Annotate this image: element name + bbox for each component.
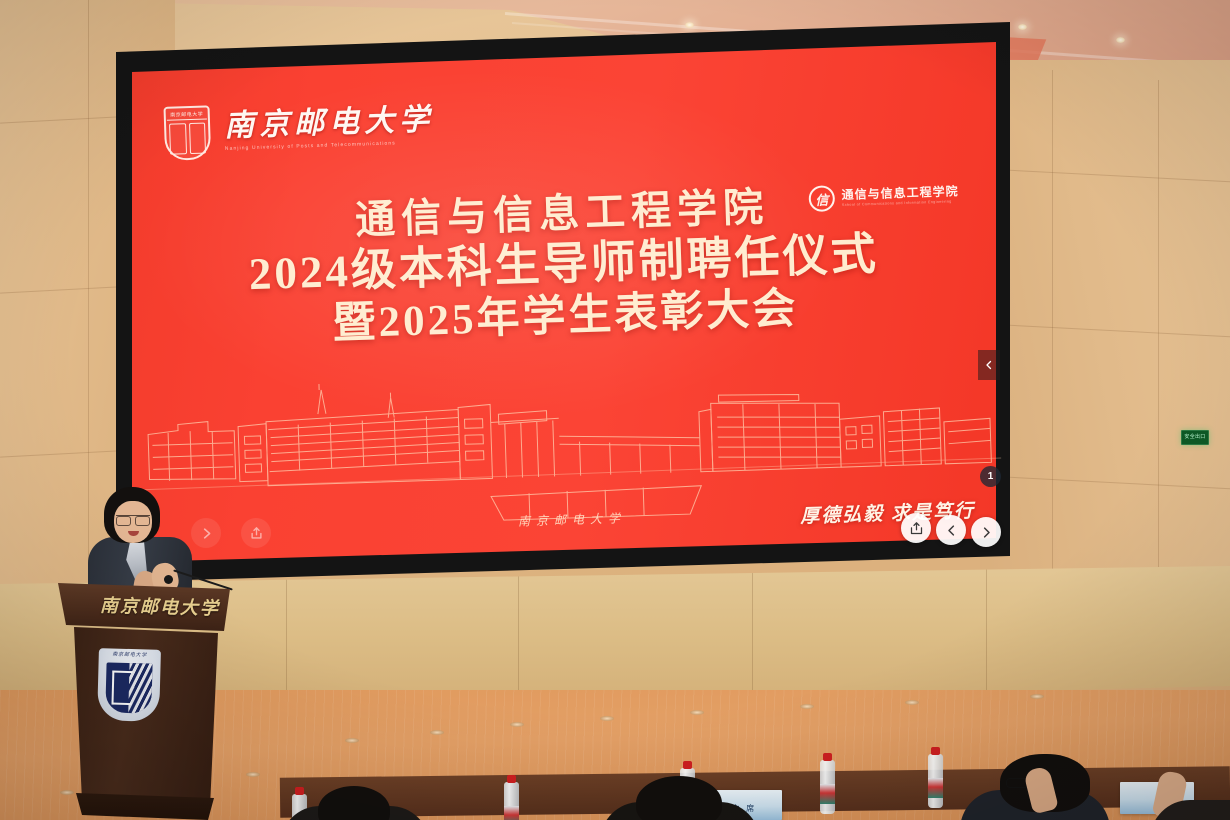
crest-motif xyxy=(169,123,206,155)
bottle-label xyxy=(504,806,519,820)
campus-gate-label: 南京邮电大学 xyxy=(518,509,627,529)
bottle-label xyxy=(820,784,835,804)
floor-socket xyxy=(1030,694,1044,699)
school-brand: 南京邮电大学 南京邮电大学 Nanjing University of Post… xyxy=(163,98,435,161)
floor-socket xyxy=(345,738,359,743)
ceiling-spotlight xyxy=(1116,37,1125,43)
share-button-ghost[interactable] xyxy=(241,518,271,548)
ceiling-spotlight xyxy=(1018,24,1027,30)
floor-socket xyxy=(905,700,919,705)
university-crest-icon: 南京邮电大学 xyxy=(163,105,211,160)
school-wordmark: 南京邮电大学 Nanjing University of Posts and T… xyxy=(224,105,435,152)
prev-button[interactable] xyxy=(936,515,966,545)
slide-content: 南京邮电大学 南京邮电大学 Nanjing University of Post… xyxy=(126,28,1004,576)
crest-top-chars: 南京邮电大学 xyxy=(167,108,207,120)
next-button[interactable] xyxy=(971,517,1001,547)
water-bottle xyxy=(928,754,943,808)
water-bottle xyxy=(504,782,519,820)
school-name-zh: 南京邮电大学 xyxy=(224,105,435,142)
page-number-badge[interactable]: 1 xyxy=(980,466,1001,487)
podium-wordmark: 南京邮电大学 xyxy=(100,591,221,620)
speaker-glasses xyxy=(116,515,150,523)
podium-crest-icon: 南京邮电大学 xyxy=(97,648,161,722)
lectern-podium: 南京邮电大学 南京邮电大学 xyxy=(48,583,238,820)
floor-socket xyxy=(246,772,260,777)
emergency-exit-sign: 安全出口 xyxy=(1181,430,1209,445)
share-button[interactable] xyxy=(901,513,931,543)
water-bottle xyxy=(820,760,835,814)
bottle-label xyxy=(928,778,943,798)
photo-canvas: 安全出口 南京邮电大学 南京邮电大学 Nanjing University of… xyxy=(0,0,1230,820)
floor-socket xyxy=(510,722,524,727)
podium-crest-motif xyxy=(105,662,152,713)
slide-title: 通信与信息工程学院 2024级本科生导师制聘任仪式 暨2025年学生表彰大会 xyxy=(131,178,997,355)
led-display-screen: 南京邮电大学 南京邮电大学 Nanjing University of Post… xyxy=(108,22,1018,582)
floor-socket xyxy=(800,704,814,709)
floor-socket xyxy=(430,730,444,735)
exit-sign-label: 安全出口 xyxy=(1184,435,1205,440)
floor-socket xyxy=(690,710,704,715)
collapse-panel-tab[interactable] xyxy=(978,350,1000,380)
floor-socket xyxy=(600,716,614,721)
